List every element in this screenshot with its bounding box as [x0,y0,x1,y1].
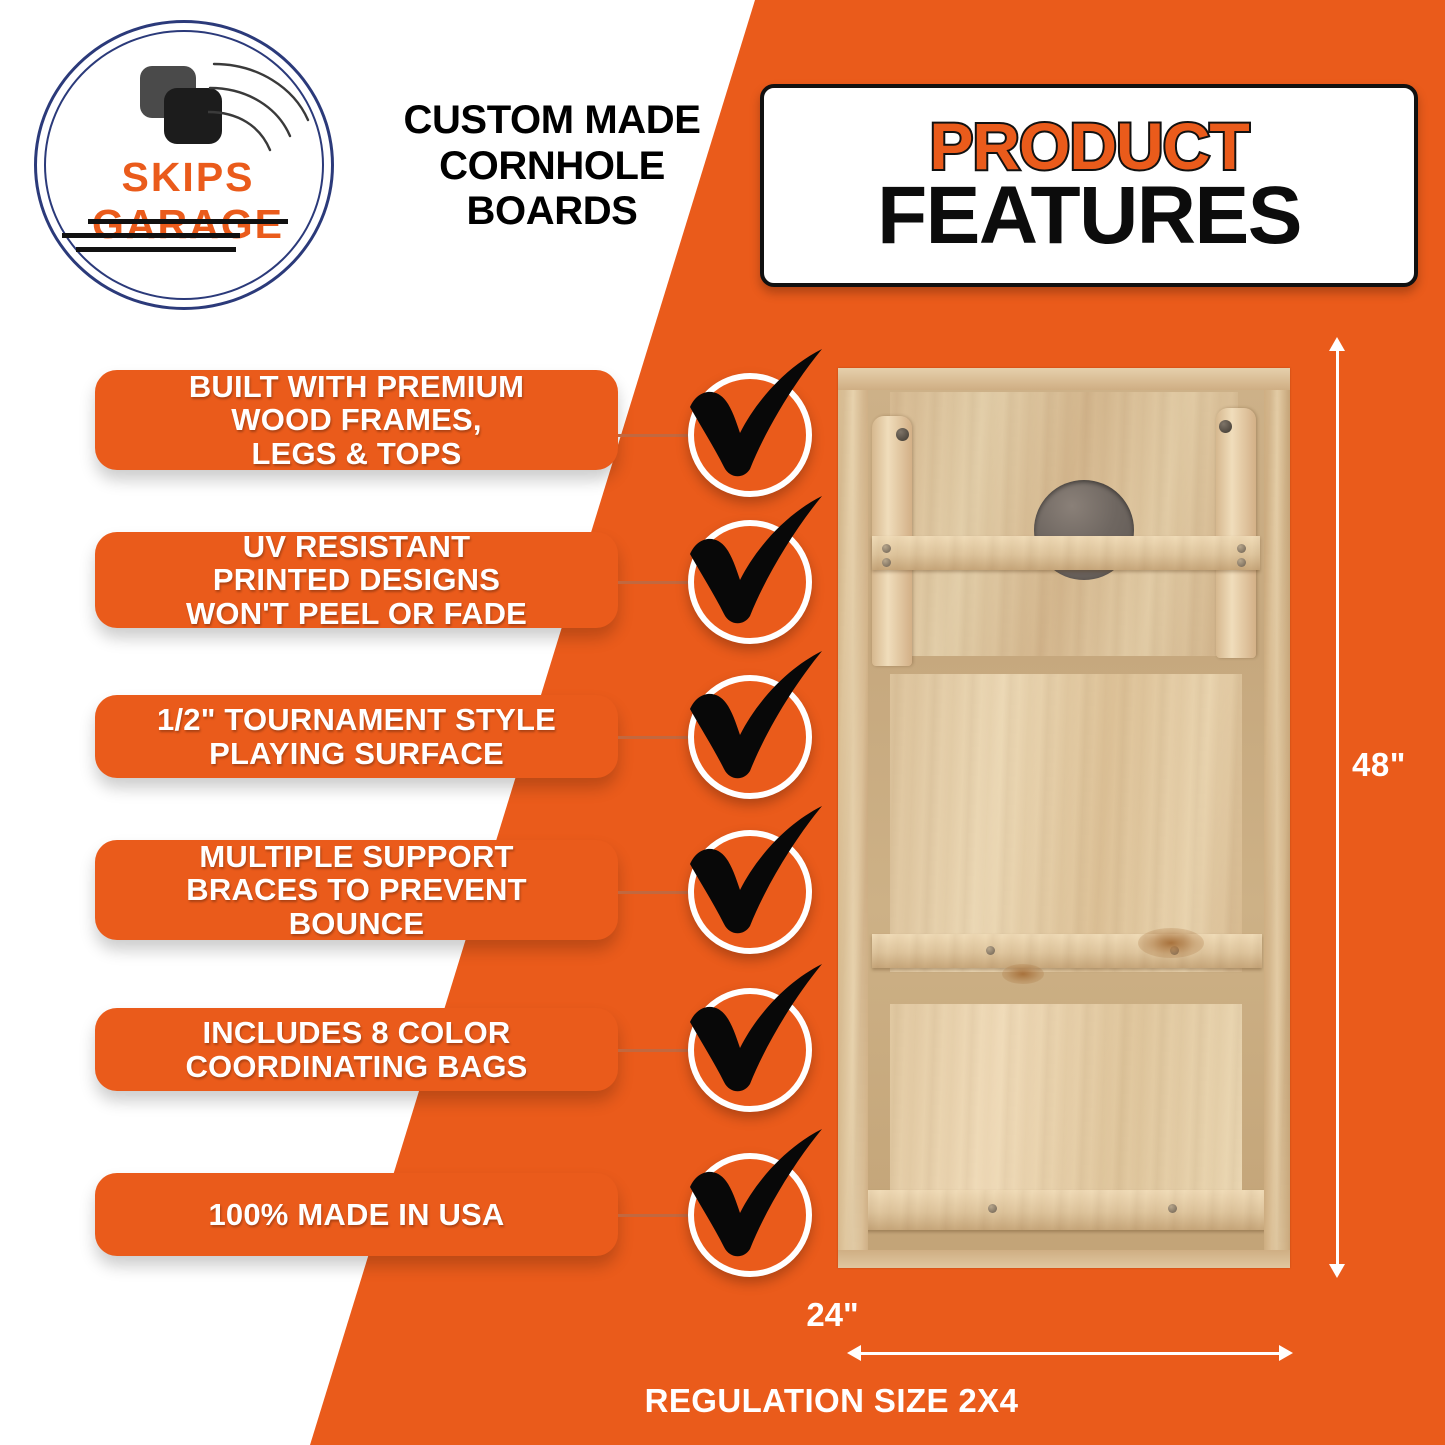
feature-pill[interactable]: INCLUDES 8 COLOR COORDINATING BAGS [95,1008,618,1091]
leg-bolt-left [896,428,909,441]
feature-check-badge [688,1153,812,1277]
feature-pill-label: MULTIPLE SUPPORT BRACES TO PREVENT BOUNC… [186,840,526,940]
feature-pill-label: 1/2" TOURNAMENT STYLE PLAYING SURFACE [157,703,556,770]
page-title: CUSTOM MADE CORNHOLE BOARDS [352,98,752,235]
feature-check-badge [688,520,812,644]
support-brace-middle [872,934,1262,968]
brace-screw-3 [1237,544,1246,553]
leg-bolt-right [1219,420,1232,433]
logo-underline-3 [76,247,236,252]
banner-word-features: FEATURES [877,176,1301,256]
height-dimension-label: 48" [1352,746,1406,784]
board-frame-bottom [838,1250,1290,1268]
wood-knot-2 [1002,964,1044,984]
infographic-canvas: SKIPS GARAGE CUSTOM MADE CORNHOLE BOARDS… [0,0,1445,1445]
folding-leg-right [1216,408,1256,658]
board-middle-panel [890,674,1242,972]
page-title-line-1: CUSTOM MADE [352,98,752,144]
feature-check-badge [688,830,812,954]
feature-pill[interactable]: MULTIPLE SUPPORT BRACES TO PREVENT BOUNC… [95,840,618,940]
board-frame-right [1264,368,1290,1268]
feature-pill[interactable]: BUILT WITH PREMIUM WOOD FRAMES, LEGS & T… [95,370,618,470]
brace-screw-1 [882,544,891,553]
feature-connector-line [618,1049,692,1052]
feature-connector-line [618,891,692,894]
width-dimension-label: 24" [0,1296,1445,1334]
motion-swoosh-icon [208,58,323,153]
product-features-banner: PRODUCT FEATURES [760,84,1418,287]
page-title-line-2: CORNHOLE [352,144,752,190]
feature-connector-line [618,581,692,584]
feature-pill[interactable]: 1/2" TOURNAMENT STYLE PLAYING SURFACE [95,695,618,778]
board-frame-top [838,368,1290,390]
brace-screw-7 [988,1204,997,1213]
regulation-size-text: REGULATION SIZE 2X4 [0,1382,1445,1420]
page-title-line-3: BOARDS [352,189,752,235]
height-dimension-arrow [1336,350,1339,1265]
logo-underline-1 [88,219,288,224]
feature-check-badge [688,373,812,497]
board-frame-left [838,368,868,1268]
feature-check-badge [688,675,812,799]
logo-underline-2 [62,233,240,238]
support-brace-upper [872,536,1260,570]
support-brace-lower [864,1190,1266,1230]
feature-connector-line [618,1214,692,1217]
feature-connector-line [618,434,692,437]
feature-pill[interactable]: 100% MADE IN USA [95,1173,618,1256]
feature-pill-label: BUILT WITH PREMIUM WOOD FRAMES, LEGS & T… [189,370,524,470]
feature-check-badge [688,988,812,1112]
brace-screw-8 [1168,1204,1177,1213]
board-lower-panel [890,1004,1242,1218]
brace-screw-5 [986,946,995,955]
cornhole-board-photo [838,368,1290,1268]
brace-screw-2 [882,558,891,567]
feature-connector-line [618,736,692,739]
brand-logo: SKIPS GARAGE [28,14,348,314]
feature-pill-label: UV RESISTANT PRINTED DESIGNS WON'T PEEL … [186,530,527,630]
banner-word-product: PRODUCT [929,115,1248,178]
wood-knot-1 [1138,928,1204,958]
brace-screw-4 [1237,558,1246,567]
width-dimension-arrow [860,1352,1280,1355]
feature-pill-label: 100% MADE IN USA [208,1198,504,1231]
feature-pill-label: INCLUDES 8 COLOR COORDINATING BAGS [185,1016,527,1083]
feature-pill[interactable]: UV RESISTANT PRINTED DESIGNS WON'T PEEL … [95,532,618,628]
logo-underline-group [28,210,348,252]
